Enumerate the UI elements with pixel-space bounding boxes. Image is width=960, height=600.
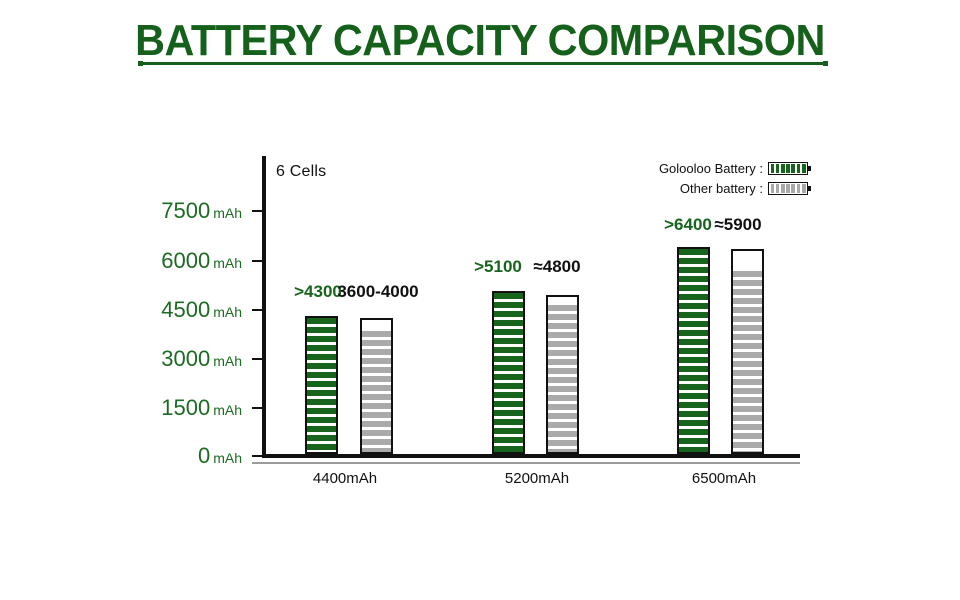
x-axis-baseline-shadow: [252, 462, 800, 464]
battery-icon-green: [768, 162, 808, 175]
y-tick-label-7500: 7500mAh: [161, 198, 242, 224]
y-tick-unit: mAh: [213, 205, 242, 221]
battery-nub-icon: [739, 249, 756, 251]
y-tick-unit: mAh: [213, 353, 242, 369]
category-label-6500mah: 6500mAh: [692, 470, 756, 487]
y-tick-mark-0: [252, 455, 262, 457]
bar-fill: [679, 249, 708, 452]
category-label-5200mah: 5200mAh: [505, 470, 569, 487]
bar-other-5200: [546, 295, 579, 454]
y-tick-unit: mAh: [213, 304, 242, 320]
value-label-other-2: ≈4800: [533, 257, 580, 277]
legend-label-golooloo: Golooloo Battery :: [659, 161, 763, 176]
y-tick-unit: mAh: [213, 450, 242, 466]
y-tick-unit: mAh: [213, 255, 242, 271]
y-tick-label-0: 0mAh: [198, 443, 242, 469]
value-label-other-3: ≈5900: [714, 215, 761, 235]
value-label-golooloo-3: >6400: [664, 215, 712, 235]
value-label-golooloo-2: >5100: [474, 257, 522, 277]
legend-item-golooloo: Golooloo Battery :: [630, 160, 808, 177]
y-tick-value: 6000: [161, 248, 210, 273]
bar-other-4400: [360, 318, 393, 454]
legend-label-other: Other battery :: [680, 181, 763, 196]
y-tick-value: 3000: [161, 346, 210, 371]
bar-fill: [494, 293, 523, 452]
legend-item-other: Other battery :: [630, 180, 808, 197]
y-tick-mark-3000: [252, 358, 262, 360]
y-tick-label-4500: 4500mAh: [161, 297, 242, 323]
battery-nub-icon: [368, 318, 385, 320]
y-tick-value: 7500: [161, 198, 210, 223]
bar-fill: [733, 271, 762, 452]
y-tick-mark-6000: [252, 260, 262, 262]
bar-other-6500: [731, 249, 764, 454]
value-label-other-1: 3600-4000: [337, 282, 418, 302]
battery-icon-gray: [768, 182, 808, 195]
battery-nub-icon: [554, 295, 571, 297]
y-tick-value: 0: [198, 443, 210, 468]
category-label-4400mah: 4400mAh: [313, 470, 377, 487]
cells-count-label: 6 Cells: [276, 163, 326, 181]
y-tick-value: 4500: [161, 297, 210, 322]
bar-fill: [307, 318, 336, 452]
bar-golooloo-6500: [677, 247, 710, 454]
y-tick-mark-4500: [252, 309, 262, 311]
battery-capacity-chart: 6 Cells 7500mAh 6000mAh 4500mAh 3000mAh …: [0, 0, 960, 600]
chart-legend: Golooloo Battery : Other battery :: [630, 160, 808, 200]
y-tick-label-6000: 6000mAh: [161, 248, 242, 274]
y-tick-mark-7500: [252, 210, 262, 212]
y-tick-mark-1500: [252, 407, 262, 409]
bar-golooloo-4400: [305, 316, 338, 454]
y-tick-unit: mAh: [213, 402, 242, 418]
bar-fill: [548, 305, 577, 452]
y-tick-label-1500: 1500mAh: [161, 395, 242, 421]
bar-golooloo-5200: [492, 291, 525, 454]
y-tick-label-3000: 3000mAh: [161, 346, 242, 372]
bar-fill: [362, 331, 391, 452]
y-tick-value: 1500: [161, 395, 210, 420]
y-axis-line: [262, 156, 266, 458]
value-label-golooloo-1: >4300: [294, 282, 342, 302]
x-axis-line: [262, 454, 800, 458]
